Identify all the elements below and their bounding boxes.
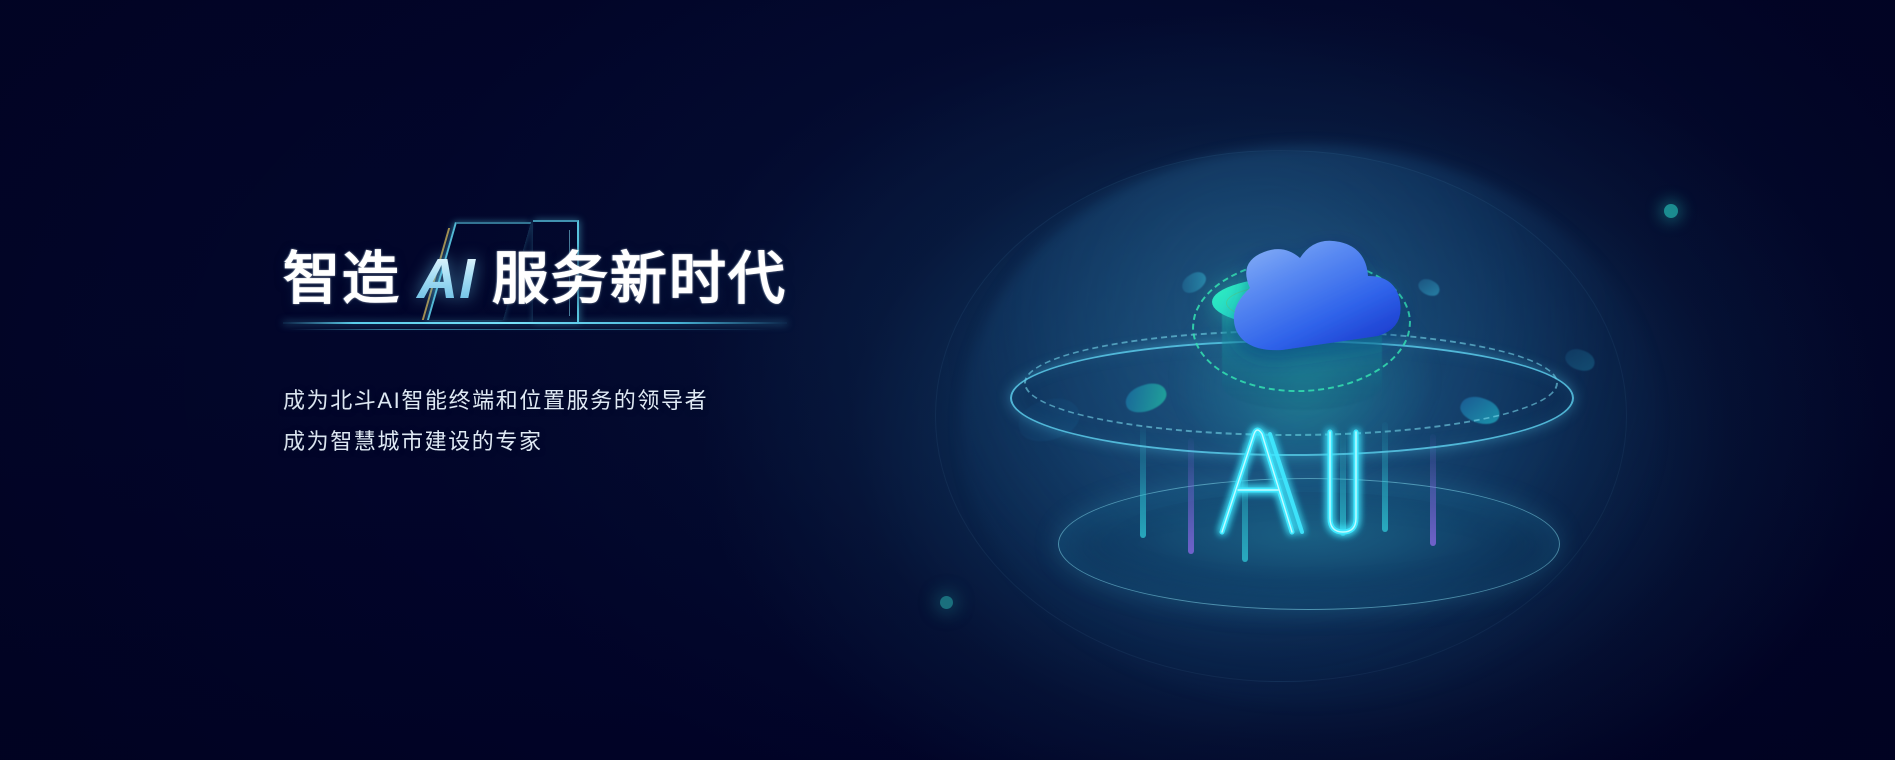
decor-dot-top-right [1664,204,1678,218]
subtitle-line-2: 成为智慧城市建设的专家 [283,421,843,462]
hero-subtitle: 成为北斗AI智能终端和位置服务的领导者 成为智慧城市建设的专家 [283,380,843,462]
headline-lead: 智造 [283,247,401,311]
headline-underline [283,322,787,324]
page-title: 智造AI服务新时代 [283,250,787,308]
subtitle-line-1: 成为北斗AI智能终端和位置服务的领导者 [283,380,843,421]
headline-trail: 服务新时代 [492,247,787,311]
neon-ai-text [1206,418,1406,538]
hero-banner: 智造AI服务新时代 成为北斗AI智能终端和位置服务的领导者 成为智慧城市建设的专… [0,0,1895,760]
hero-copy: 智造AI服务新时代 成为北斗AI智能终端和位置服务的领导者 成为智慧城市建设的专… [283,250,843,462]
light-bar [1188,438,1194,554]
light-bar [1430,434,1436,546]
headline-underline-alt [289,329,773,330]
hero-illustration [1010,190,1610,660]
decor-dot-bottom-left [940,596,953,609]
headline-ai-word: AI [401,250,492,308]
cloud-icon [1206,232,1416,372]
